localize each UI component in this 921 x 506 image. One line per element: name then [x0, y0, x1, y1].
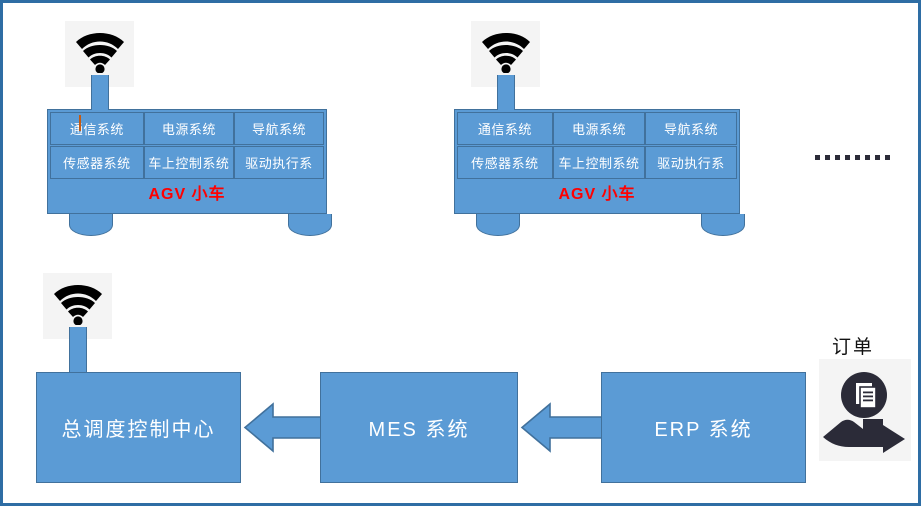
agv-2-wheel-right: [701, 214, 745, 236]
arrow-mes-to-control-center: [243, 399, 331, 456]
wifi-icon: [72, 29, 128, 73]
wifi-icon: [50, 281, 106, 325]
agv-1-wheel-right: [288, 214, 332, 236]
agv-2-module-power-label: 电源系统: [572, 119, 626, 138]
mes-label: MES 系统: [369, 413, 470, 442]
agv-2-antenna-mast: [497, 75, 515, 110]
diagram-canvas: 通信系统 电源系统 导航系统 传感器系统 车上控制系统 驱动执行系 AGV 小车: [0, 0, 921, 506]
ellipsis-dot: [885, 155, 890, 160]
erp-label: ERP 系统: [654, 413, 752, 442]
agv-2-module-grid: 通信系统 电源系统 导航系统 传感器系统 车上控制系统 驱动执行系: [454, 109, 740, 179]
ellipsis-dot: [825, 155, 830, 160]
more-agvs-ellipsis: [815, 155, 890, 160]
agv-1-wheel-left: [69, 214, 113, 236]
order-icon-plate: [819, 359, 911, 461]
order-label: 订单: [832, 332, 874, 359]
agv-1-title: AGV 小车: [50, 171, 324, 213]
agv-2-module-power[interactable]: 电源系统: [553, 112, 645, 145]
agv-1-module-communication[interactable]: 通信系统: [50, 112, 144, 145]
hand-holding-document-icon: [819, 359, 911, 461]
agv-2-module-communication-label: 通信系统: [478, 119, 532, 138]
control-center-box[interactable]: 总调度控制中心: [36, 372, 241, 483]
agv-2-module-sensor-label: 传感器系统: [471, 153, 539, 172]
agv-unit-2[interactable]: 通信系统 电源系统 导航系统 传感器系统 车上控制系统 驱动执行系 AGV 小车: [454, 109, 740, 214]
agv-2-module-navigation-label: 导航系统: [664, 119, 718, 138]
ellipsis-dot: [835, 155, 840, 160]
agv-1-module-grid: 通信系统 电源系统 导航系统 传感器系统 车上控制系统 驱动执行系: [47, 109, 327, 179]
agv-2-module-drive-actuator-label: 驱动执行系: [657, 153, 725, 172]
agv-2-wheel-left: [476, 214, 520, 236]
agv-1-antenna-mast: [91, 75, 109, 110]
mes-box[interactable]: MES 系统: [320, 372, 518, 483]
ellipsis-dot: [815, 155, 820, 160]
agv-1-module-power-label: 电源系统: [162, 119, 216, 138]
ellipsis-dot: [875, 155, 880, 160]
agv-2-module-navigation[interactable]: 导航系统: [645, 112, 737, 145]
ellipsis-dot: [855, 155, 860, 160]
arrow-erp-to-mes: [520, 399, 604, 456]
agv-1-module-drive-actuator-label: 驱动执行系: [245, 153, 313, 172]
ellipsis-dot: [845, 155, 850, 160]
agv-1-module-navigation-label: 导航系统: [252, 119, 306, 138]
ellipsis-dot: [865, 155, 870, 160]
agv-2-title: AGV 小车: [457, 171, 737, 213]
text-cursor-artifact: [79, 115, 81, 131]
agv-1-module-sensor-label: 传感器系统: [63, 153, 131, 172]
agv-unit-1[interactable]: 通信系统 电源系统 导航系统 传感器系统 车上控制系统 驱动执行系 AGV 小车: [47, 109, 327, 214]
agv-1-module-onboard-control-label: 车上控制系统: [148, 153, 229, 172]
control-center-antenna-mast: [69, 327, 87, 373]
wifi-icon: [478, 29, 534, 73]
control-center-label: 总调度控制中心: [62, 413, 216, 442]
agv-1-module-navigation[interactable]: 导航系统: [234, 112, 324, 145]
agv-2-module-communication[interactable]: 通信系统: [457, 112, 553, 145]
agv-2-module-onboard-control-label: 车上控制系统: [558, 153, 639, 172]
agv-1-module-power[interactable]: 电源系统: [144, 112, 234, 145]
erp-box[interactable]: ERP 系统: [601, 372, 806, 483]
